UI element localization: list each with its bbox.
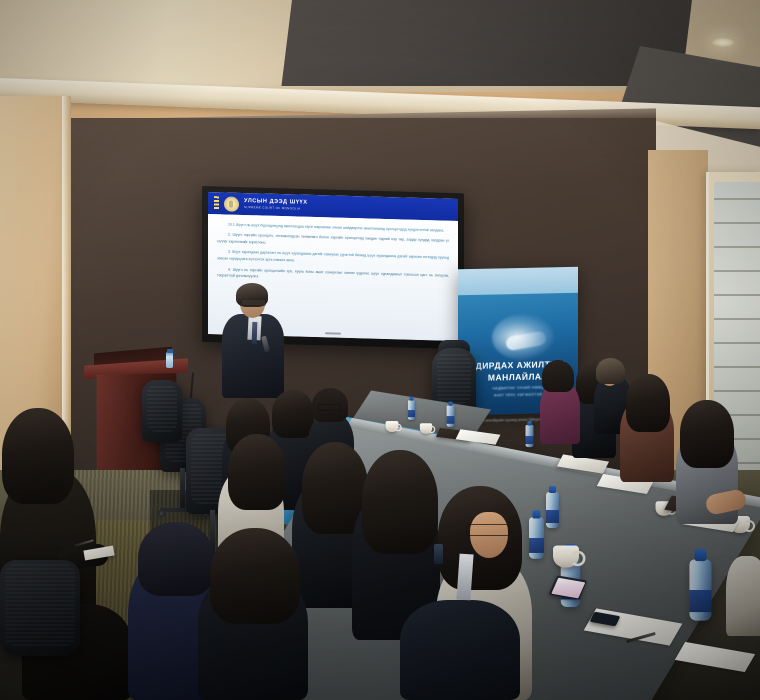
window-blind-slat: [714, 222, 760, 224]
water-bottle: [529, 517, 544, 558]
water-bottle: [408, 400, 415, 420]
recessed-ceiling-light: [712, 38, 734, 47]
slide-footer-marker: [325, 332, 341, 334]
chair-wheel: [158, 510, 165, 517]
attendee-hair: [138, 522, 214, 596]
window-blind-slat: [714, 198, 760, 200]
window-blind-slat: [714, 366, 760, 368]
soyombo-icon: [214, 196, 219, 210]
office-chair: [0, 560, 80, 656]
window-blind-slat: [714, 294, 760, 296]
banner-top-band: [458, 267, 578, 296]
window-blind-slat: [714, 342, 760, 344]
water-bottle: [546, 492, 559, 528]
slide-paragraph: 3. Шүүх хуралдаан даргалагч нь шүүх хура…: [217, 249, 449, 269]
conference-room-photo: УЛСЫН ДЭЭД ШҮҮХ SUPREME COURT OF MONGOLI…: [0, 0, 760, 700]
attendee-hair: [272, 390, 314, 438]
attendee-hair: [542, 360, 574, 392]
attendee-hair: [362, 450, 438, 554]
window-blind-slat: [714, 270, 760, 272]
presenter-tie: [252, 322, 258, 344]
water-bottle: [447, 405, 455, 427]
attendee-hair: [228, 434, 286, 510]
slide-paragraph: 2. Шүүгч хэргийн оролцогч, итгэмжлэгдсэн…: [217, 232, 449, 252]
attendee-suit: [400, 600, 520, 700]
coffee-cup: [553, 545, 579, 567]
attendee-hair: [210, 528, 300, 624]
chair-post: [180, 468, 185, 510]
attendee-hair: [2, 408, 74, 504]
podium-bottle-cap: [167, 349, 173, 353]
attendee-glasses-icon: [466, 524, 510, 536]
window-blind-slat: [714, 390, 760, 392]
lanyard-badge: [434, 544, 443, 564]
slide-organization-en: SUPREME COURT OF MONGOLIA: [244, 206, 307, 211]
podium-water-bottle: [166, 352, 173, 368]
smartphone-screen: [551, 577, 585, 598]
attendee-hair: [596, 358, 625, 384]
water-bottle: [525, 425, 533, 447]
attendee-hair: [626, 374, 670, 432]
attendee-hair: [680, 400, 734, 468]
presenter-glasses-icon: [241, 299, 266, 306]
water-bottle: [689, 559, 711, 620]
coffee-cup: [420, 423, 432, 434]
attendee-torso: [726, 556, 760, 636]
window-blind-slat: [714, 246, 760, 248]
court-emblem-icon: [224, 196, 239, 211]
office-chair: [142, 380, 182, 442]
window-blind-slat: [714, 318, 760, 320]
attendee-glasses-icon: [318, 404, 341, 411]
coffee-cup: [386, 421, 399, 432]
